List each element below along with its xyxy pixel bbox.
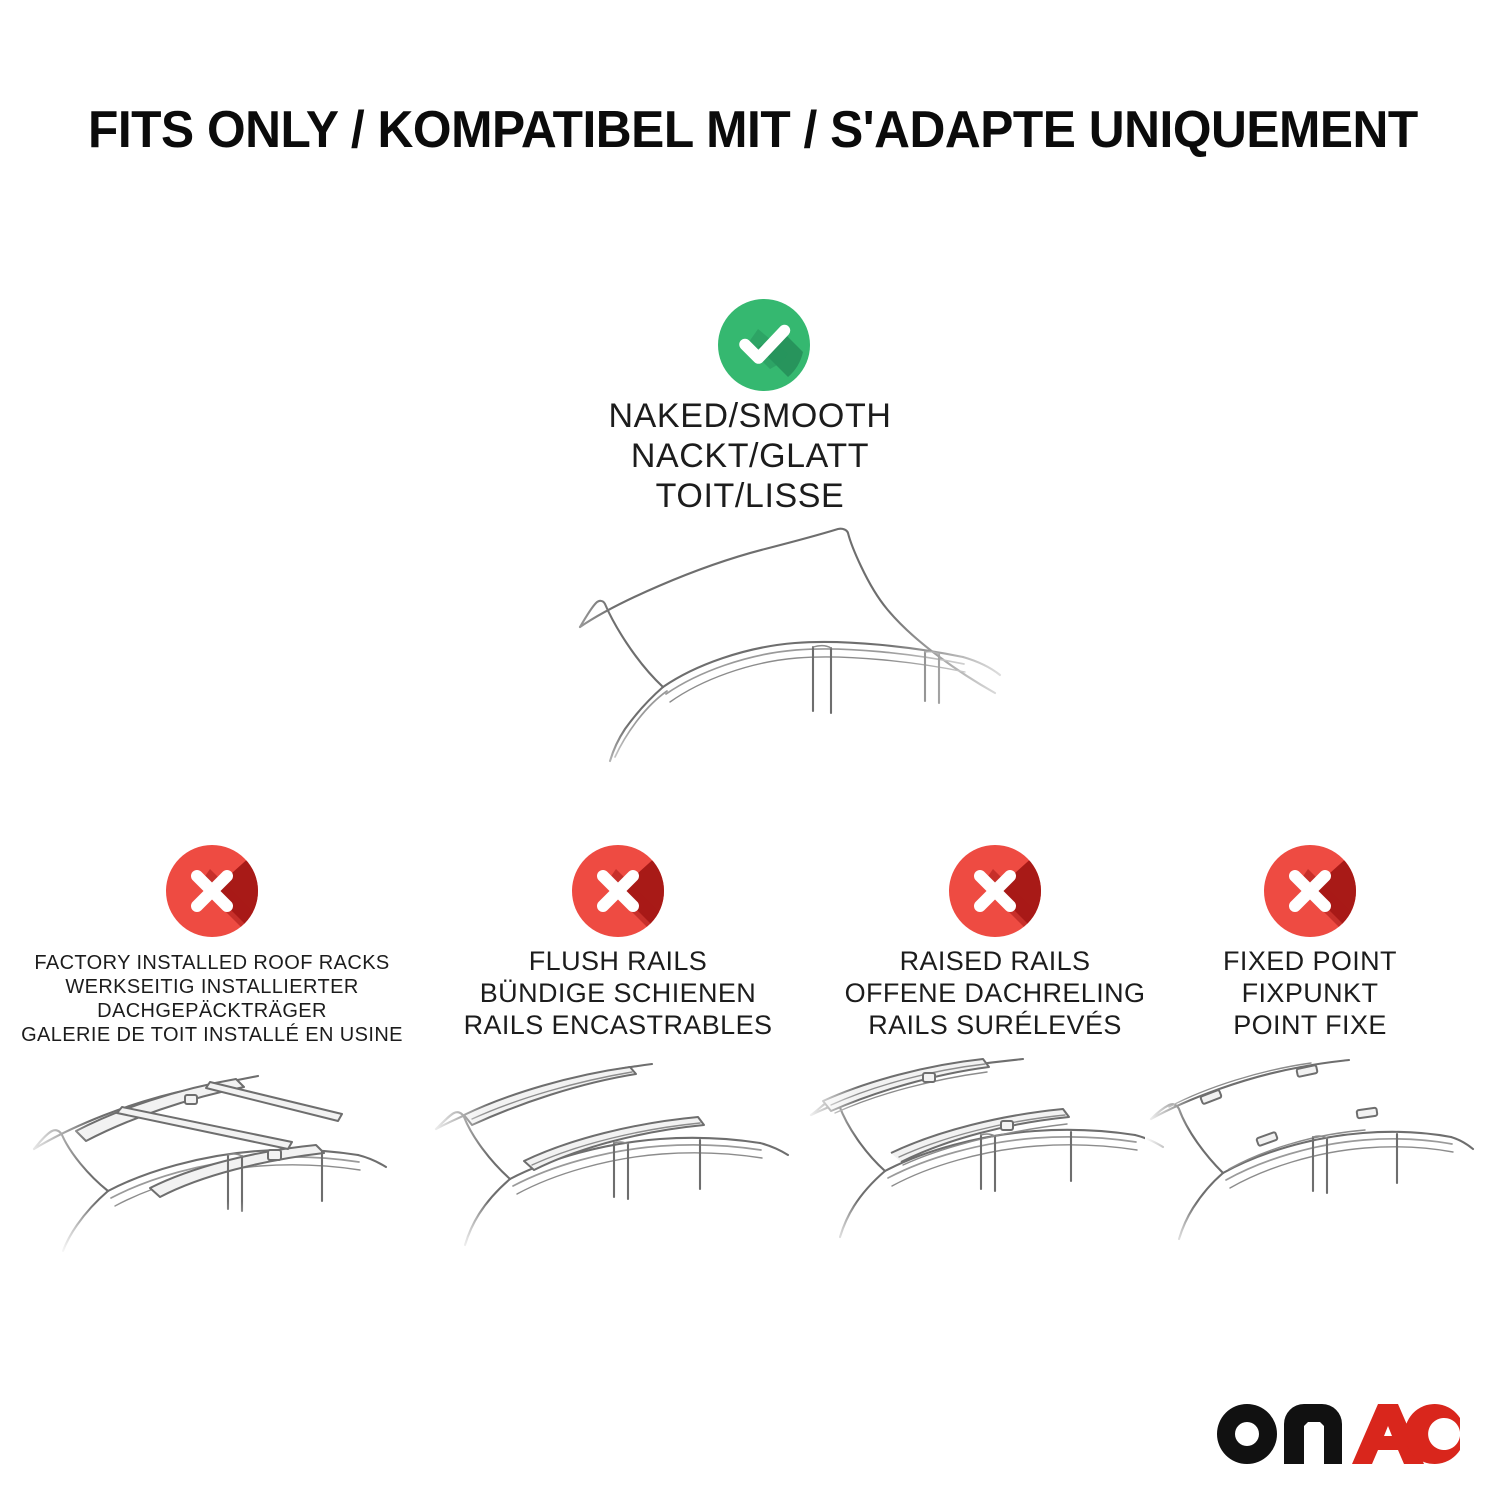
check-circle-icon <box>718 299 810 391</box>
caption-line-2: WERKSEITIG INSTALLIERTER <box>12 975 412 999</box>
caption-line-2: OFFENE DACHRELING <box>800 977 1190 1009</box>
hero-label: NAKED/SMOOTH NACKT/GLATT TOIT/LISSE <box>0 396 1500 516</box>
cross-circle-icon <box>949 845 1041 937</box>
cross-circle-icon <box>572 845 664 937</box>
caption-line-1: FACTORY INSTALLED ROOF RACKS <box>12 951 412 975</box>
raised-rails-illustration <box>805 1057 1185 1257</box>
caption: FACTORY INSTALLED ROOF RACKS WERKSEITIG … <box>12 951 412 1047</box>
factory-roof-rack-illustration <box>22 1057 402 1257</box>
caption-line-3: POINT FIXE <box>1165 1009 1455 1041</box>
caption-line-2: FIXPUNKT <box>1165 977 1455 1009</box>
smooth-roof-illustration <box>495 515 1035 805</box>
cross-circle-icon <box>166 845 258 937</box>
page-title: FITS ONLY / KOMPATIBEL MIT / S'ADAPTE UN… <box>88 104 1418 156</box>
caption-line-3: RAILS ENCASTRABLES <box>418 1009 818 1041</box>
caption-line-1: FLUSH RAILS <box>418 945 818 977</box>
caption-line-2: BÜNDIGE SCHIENEN <box>418 977 818 1009</box>
caption-line-3: DACHGEPÄCKTRÄGER <box>12 999 412 1023</box>
omac-logo <box>1212 1396 1462 1466</box>
cross-circle-icon <box>1264 845 1356 937</box>
caption: FIXED POINT FIXPUNKT POINT FIXE <box>1165 945 1455 1041</box>
caption-line-3: RAILS SURÉLEVÉS <box>800 1009 1190 1041</box>
caption: FLUSH RAILS BÜNDIGE SCHIENEN RAILS ENCAS… <box>418 945 818 1041</box>
fixed-point-illustration <box>1145 1057 1475 1257</box>
hero-label-line-3: TOIT/LISSE <box>0 476 1500 516</box>
hero-label-line-1: NAKED/SMOOTH <box>0 396 1500 436</box>
caption-line-1: FIXED POINT <box>1165 945 1455 977</box>
caption-line-4: GALERIE DE TOIT INSTALLÉ EN USINE <box>12 1023 412 1047</box>
caption-line-1: RAISED RAILS <box>800 945 1190 977</box>
flush-rails-illustration <box>428 1057 808 1257</box>
hero-label-line-2: NACKT/GLATT <box>0 436 1500 476</box>
caption: RAISED RAILS OFFENE DACHRELING RAILS SUR… <box>800 945 1190 1041</box>
